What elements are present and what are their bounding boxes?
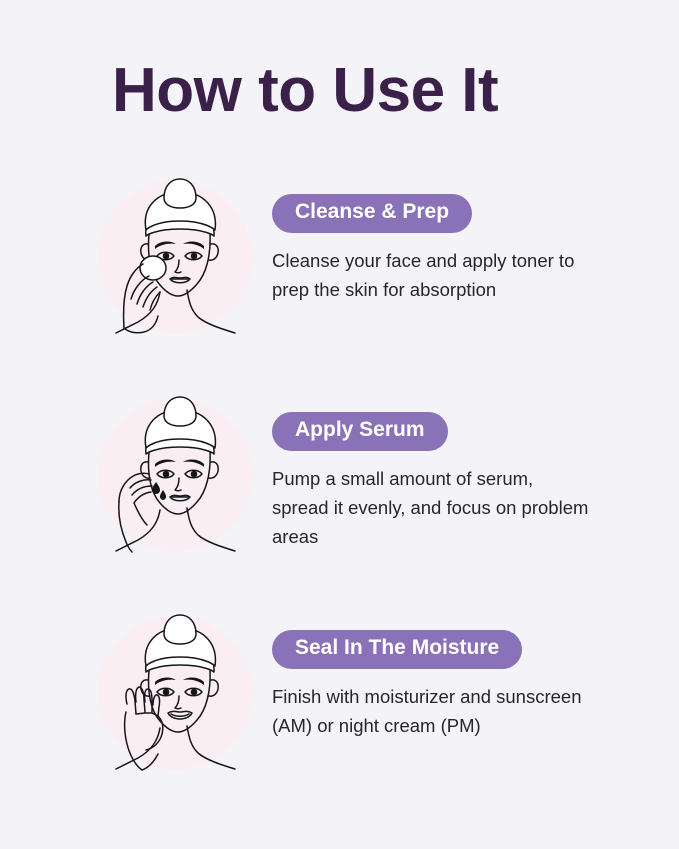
step-illustration-moisturize — [94, 608, 256, 774]
step-item: Seal In The Moisture Finish with moistur… — [0, 608, 679, 826]
step-badge: Seal In The Moisture — [272, 630, 522, 669]
step-description: Pump a small amount of serum, spread it … — [272, 464, 594, 551]
step-illustration-serum — [94, 390, 256, 556]
infographic-page: How to Use It — [0, 0, 679, 849]
step-item: Apply Serum Pump a small amount of serum… — [0, 390, 679, 608]
step-badge: Apply Serum — [272, 412, 448, 451]
cotton-pad-cleanse-icon — [94, 172, 256, 338]
serum-drops-icon — [94, 390, 256, 556]
step-content: Cleanse & Prep Cleanse your face and app… — [272, 172, 679, 304]
step-badge: Cleanse & Prep — [272, 194, 472, 233]
step-item: Cleanse & Prep Cleanse your face and app… — [0, 172, 679, 390]
step-illustration-cleanse — [94, 172, 256, 338]
steps-list: Cleanse & Prep Cleanse your face and app… — [0, 172, 679, 826]
step-description: Finish with moisturizer and sunscreen (A… — [272, 682, 594, 740]
page-title: How to Use It — [112, 58, 498, 123]
open-palm-moisturize-icon — [94, 608, 256, 774]
step-content: Apply Serum Pump a small amount of serum… — [272, 390, 679, 551]
step-description: Cleanse your face and apply toner to pre… — [272, 246, 594, 304]
step-content: Seal In The Moisture Finish with moistur… — [272, 608, 679, 740]
